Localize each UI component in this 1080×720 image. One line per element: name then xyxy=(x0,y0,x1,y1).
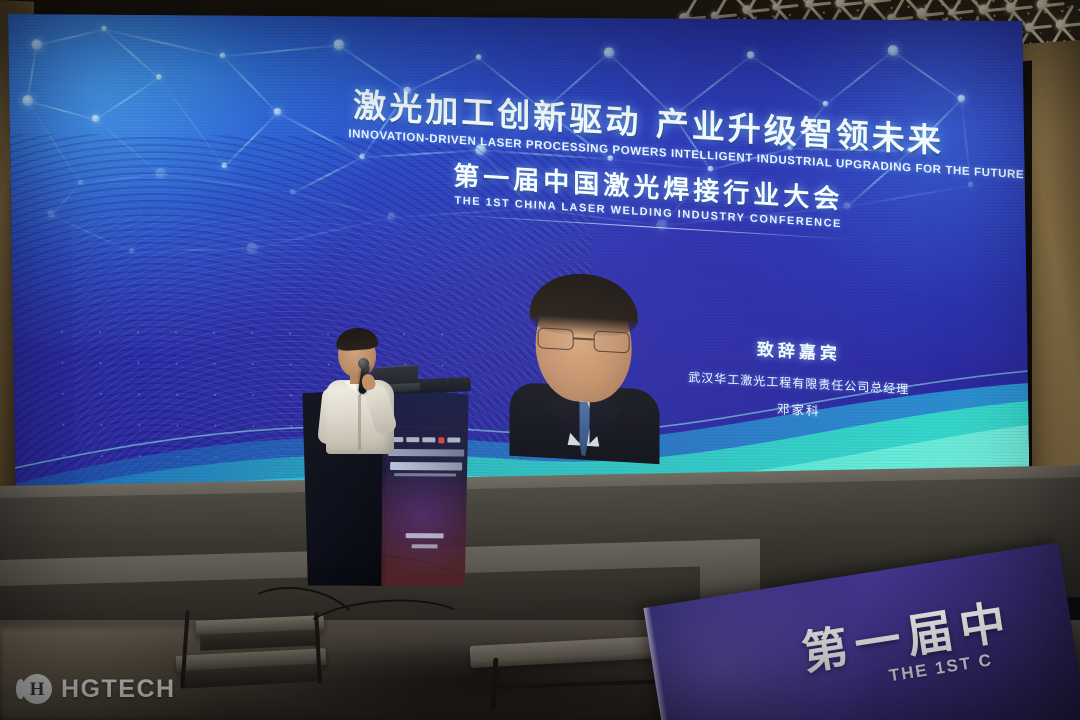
podium-title-line-3 xyxy=(394,473,456,476)
screen-speaker-info: 致辞嘉宾 武汉华工激光工程有限责任公司总经理 邓家科 xyxy=(664,330,934,426)
screen-portrait-photo xyxy=(505,270,663,465)
speaker-hair xyxy=(335,327,378,352)
microphone-head-icon xyxy=(358,358,369,369)
led-backdrop-screen: 激光加工创新驱动 产业升级智领未来 INNOVATION-DRIVEN LASE… xyxy=(8,14,1030,513)
podium-date-line xyxy=(406,533,444,538)
stage-speaker xyxy=(312,322,408,472)
conference-stage-photo: 激光加工创新驱动 产业升级智领未来 INNOVATION-DRIVEN LASE… xyxy=(0,0,1080,720)
logo-letter: H xyxy=(30,680,45,699)
podium-location-line xyxy=(412,544,438,548)
hgtech-logo-icon: H xyxy=(22,674,52,704)
brand-name: HGTECH xyxy=(61,675,176,704)
watermark: H HGTECH xyxy=(22,674,176,704)
